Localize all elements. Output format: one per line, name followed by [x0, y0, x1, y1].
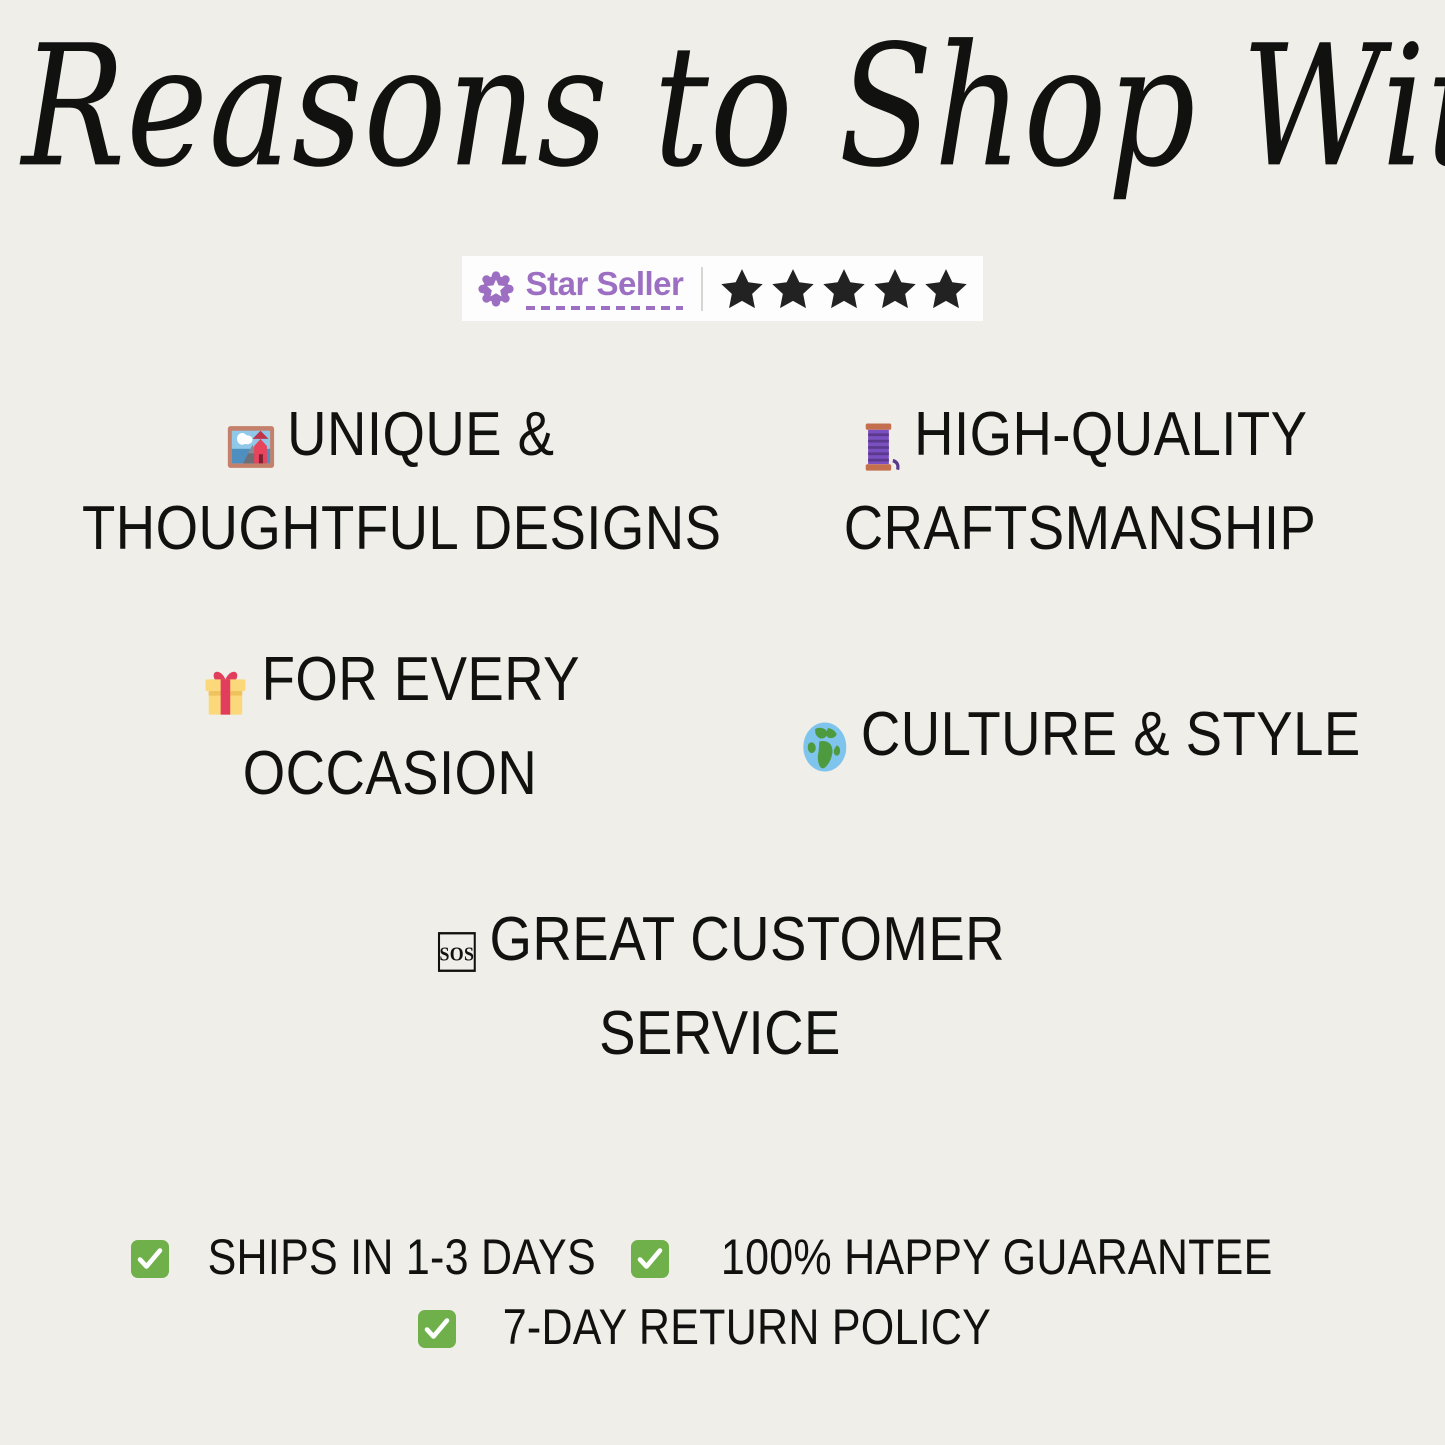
star-seller-dashed-underline: [526, 306, 684, 310]
feature-line: CRAFTSMANSHIP: [781, 486, 1379, 572]
feature-unique-designs: UNIQUE & THOUGHTFUL DESIGNS: [40, 392, 740, 572]
guarantee-line-2: 7-DAY RETURN POLICY: [0, 1292, 1445, 1362]
star-icon: [719, 266, 765, 312]
guarantee-text: SHIPS IN 1-3 DAYS: [208, 1222, 596, 1292]
feature-culture-and-style: CULTURE & STYLE: [740, 692, 1420, 786]
globe-europe-africa-icon: [799, 700, 850, 786]
feature-line: FOR EVERY: [82, 637, 698, 731]
feature-line: OCCASION: [82, 731, 698, 817]
sos-button-icon: SOS: [435, 905, 479, 991]
feature-for-every-occasion: FOR EVERY OCCASION: [40, 637, 740, 817]
guarantee-text: 7-DAY RETURN POLICY: [502, 1292, 990, 1362]
feature-line: HIGH-QUALITY: [781, 392, 1379, 486]
feature-line: CULTURE & STYLE: [781, 692, 1379, 786]
thread-spool-icon: [853, 400, 904, 486]
badge-divider: [701, 267, 703, 311]
feature-great-customer-service: SOSGREAT CUSTOMER SERVICE: [270, 897, 1170, 1077]
framed-picture-icon: [226, 400, 277, 486]
feature-high-quality-craftsmanship: HIGH-QUALITY CRAFTSMANSHIP: [740, 392, 1420, 572]
guarantees-section: SHIPS IN 1-3 DAYS100% HAPPY GUARANTEE 7-…: [0, 1222, 1445, 1362]
star-icon: [821, 266, 867, 312]
check-mark-icon: [130, 1239, 170, 1279]
feature-line: THOUGHTFUL DESIGNS: [82, 486, 698, 572]
wrapped-gift-icon: [200, 645, 251, 731]
star-seller-rosette-icon: [478, 271, 514, 307]
feature-line: SERVICE: [324, 991, 1116, 1077]
page-title: Reasons to Shop With Us: [22, 19, 1424, 195]
star-seller-label-wrap: Star Seller: [526, 267, 684, 310]
svg-text:SOS: SOS: [440, 943, 475, 965]
feature-line: UNIQUE &: [82, 392, 698, 486]
check-mark-icon: [417, 1309, 457, 1349]
star-seller-label: Star Seller: [526, 267, 684, 300]
check-mark-icon: [630, 1239, 670, 1279]
star-icon: [923, 266, 969, 312]
star-rating: [719, 266, 969, 312]
features-grid: UNIQUE & THOUGHTFUL DESIGNS HIGH-QUALITY…: [0, 392, 1445, 1092]
guarantee-text: 100% HAPPY GUARANTEE: [720, 1222, 1272, 1292]
star-icon: [872, 266, 918, 312]
star-seller-badge-row: Star Seller: [0, 256, 1445, 321]
star-seller-badge: Star Seller: [462, 256, 984, 321]
guarantee-line-1: SHIPS IN 1-3 DAYS100% HAPPY GUARANTEE: [0, 1222, 1445, 1292]
feature-line: SOSGREAT CUSTOMER: [324, 897, 1116, 991]
page-title-container: Reasons to Shop With Us: [0, 30, 1445, 179]
star-icon: [770, 266, 816, 312]
